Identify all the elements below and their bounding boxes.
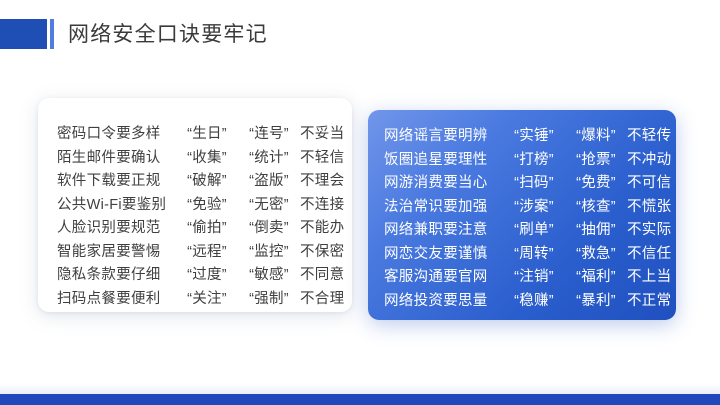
rhyme-row: 人脸识别要规范“偷拍”“倒卖”不能办 — [57, 216, 352, 240]
header-accent-block — [0, 19, 47, 49]
rhyme-row: 网络谣言要明辨“实锤”“爆料”不轻传 — [384, 124, 676, 148]
rhyme-row: 网恋交友要谨慎“周转”“救急”不信任 — [384, 242, 676, 266]
rhyme-row: 软件下载要正规“破解”“盗版”不理会 — [57, 169, 352, 193]
rhyme-segment-a: 陌生邮件要确认 — [57, 146, 176, 167]
rhyme-row: 密码口令要多样“生日”“连号”不妥当 — [57, 122, 352, 146]
rhyme-row: 智能家居要警惕“远程”“监控”不保密 — [57, 240, 352, 264]
rhyme-segment-a: 网络投资要思量 — [384, 289, 503, 310]
rhyme-segment-c: “统计” — [238, 146, 300, 167]
rhyme-segment-d: 不妥当 — [300, 122, 344, 143]
rhyme-segment-a: 密码口令要多样 — [57, 122, 176, 143]
rhyme-row: 网络兼职要注意“刷单”“抽佣”不实际 — [384, 218, 676, 242]
rhyme-segment-b: “收集” — [176, 146, 238, 167]
slide-canvas: 网络安全口诀要牢记 密码口令要多样“生日”“连号”不妥当陌生邮件要确认“收集”“… — [0, 0, 720, 405]
rhyme-segment-a: 网络谣言要明辨 — [384, 124, 503, 145]
rhyme-row: 公共Wi-Fi要鉴别“免验”“无密”不连接 — [57, 193, 352, 217]
rhyme-row: 饭圈追星要理性“打榜”“抢票”不冲动 — [384, 148, 676, 172]
header-accent-bar — [50, 19, 54, 49]
rhyme-segment-d: 不正常 — [627, 289, 671, 310]
rhyme-segment-b: “偷拍” — [176, 216, 238, 237]
rhyme-segment-b: “过度” — [176, 263, 238, 284]
rhyme-segment-c: “爆料” — [565, 124, 627, 145]
rhyme-segment-a: 智能家居要警惕 — [57, 240, 176, 261]
rhyme-row: 扫码点餐要便利“关注”“强制”不合理 — [57, 287, 352, 311]
rhyme-segment-c: “抽佣” — [565, 218, 627, 239]
rhyme-segment-d: 不能办 — [300, 216, 344, 237]
rhyme-segment-a: 扫码点餐要便利 — [57, 287, 176, 308]
rhyme-segment-a: 法治常识要加强 — [384, 195, 503, 216]
rhyme-segment-b: “破解” — [176, 169, 238, 190]
rhyme-segment-b: “扫码” — [503, 171, 565, 192]
rhyme-segment-b: “刷单” — [503, 218, 565, 239]
rhyme-segment-b: “周转” — [503, 242, 565, 263]
rhyme-segment-a: 公共Wi-Fi要鉴别 — [57, 193, 176, 214]
rhyme-segment-b: “免验” — [176, 193, 238, 214]
rhyme-segment-d: 不轻传 — [627, 124, 671, 145]
rhyme-segment-c: “强制” — [238, 287, 300, 308]
rhyme-segment-c: “无密” — [238, 193, 300, 214]
rhyme-row: 网络投资要思量“稳赚”“暴利”不正常 — [384, 289, 676, 313]
rhyme-segment-c: “敏感” — [238, 263, 300, 284]
rhyme-segment-c: “倒卖” — [238, 216, 300, 237]
rhyme-segment-c: “盗版” — [238, 169, 300, 190]
rhyme-list-left: 密码口令要多样“生日”“连号”不妥当陌生邮件要确认“收集”“统计”不轻信软件下载… — [38, 122, 352, 310]
rhyme-row: 隐私条款要仔细“过度”“敏感”不同意 — [57, 263, 352, 287]
rhyme-segment-c: “暴利” — [565, 289, 627, 310]
rhyme-list-right: 网络谣言要明辨“实锤”“爆料”不轻传饭圈追星要理性“打榜”“抢票”不冲动网游消费… — [368, 124, 676, 312]
rhyme-segment-d: 不连接 — [300, 193, 344, 214]
rhyme-segment-a: 软件下载要正规 — [57, 169, 176, 190]
rhyme-segment-b: “打榜” — [503, 148, 565, 169]
footer-glow — [0, 384, 720, 394]
rhyme-segment-d: 不实际 — [627, 218, 671, 239]
rhyme-segment-b: “实锤” — [503, 124, 565, 145]
rhyme-segment-d: 不同意 — [300, 263, 344, 284]
rhyme-segment-c: “救急” — [565, 242, 627, 263]
rhyme-segment-d: 不理会 — [300, 169, 344, 190]
rhyme-segment-d: 不可信 — [627, 171, 671, 192]
rhyme-segment-a: 客服沟通要官网 — [384, 265, 503, 286]
rhyme-row: 网游消费要当心“扫码”“免费”不可信 — [384, 171, 676, 195]
rhyme-segment-d: 不轻信 — [300, 146, 344, 167]
rhyme-segment-c: “免费” — [565, 171, 627, 192]
rhyme-segment-a: 隐私条款要仔细 — [57, 263, 176, 284]
rhyme-segment-c: “福利” — [565, 265, 627, 286]
rhyme-segment-b: “生日” — [176, 122, 238, 143]
rhyme-segment-a: 人脸识别要规范 — [57, 216, 176, 237]
rhyme-segment-d: 不信任 — [627, 242, 671, 263]
slide-header: 网络安全口诀要牢记 — [0, 19, 268, 49]
page-title: 网络安全口诀要牢记 — [68, 19, 268, 49]
rhyme-segment-a: 网络兼职要注意 — [384, 218, 503, 239]
rhyme-segment-b: “注销” — [503, 265, 565, 286]
rhyme-segment-d: 不冲动 — [627, 148, 671, 169]
rhyme-segment-a: 网恋交友要谨慎 — [384, 242, 503, 263]
rhyme-segment-c: “抢票” — [565, 148, 627, 169]
rhyme-segment-a: 饭圈追星要理性 — [384, 148, 503, 169]
rhyme-row: 陌生邮件要确认“收集”“统计”不轻信 — [57, 146, 352, 170]
rhyme-segment-c: “连号” — [238, 122, 300, 143]
rhyme-segment-b: “稳赚” — [503, 289, 565, 310]
rhyme-row: 法治常识要加强“涉案”“核查”不慌张 — [384, 195, 676, 219]
rhyme-segment-d: 不合理 — [300, 287, 344, 308]
rhyme-row: 客服沟通要官网“注销”“福利”不上当 — [384, 265, 676, 289]
rhyme-segment-b: “关注” — [176, 287, 238, 308]
rhyme-segment-a: 网游消费要当心 — [384, 171, 503, 192]
rhyme-segment-d: 不保密 — [300, 240, 344, 261]
rhyme-segment-c: “核查” — [565, 195, 627, 216]
rhyme-segment-c: “监控” — [238, 240, 300, 261]
rhyme-segment-b: “涉案” — [503, 195, 565, 216]
rhyme-segment-d: 不上当 — [627, 265, 671, 286]
rhyme-card-right: 网络谣言要明辨“实锤”“爆料”不轻传饭圈追星要理性“打榜”“抢票”不冲动网游消费… — [368, 110, 676, 320]
rhyme-card-left: 密码口令要多样“生日”“连号”不妥当陌生邮件要确认“收集”“统计”不轻信软件下载… — [38, 98, 352, 312]
rhyme-segment-d: 不慌张 — [627, 195, 671, 216]
rhyme-segment-b: “远程” — [176, 240, 238, 261]
footer-bar — [0, 394, 720, 405]
